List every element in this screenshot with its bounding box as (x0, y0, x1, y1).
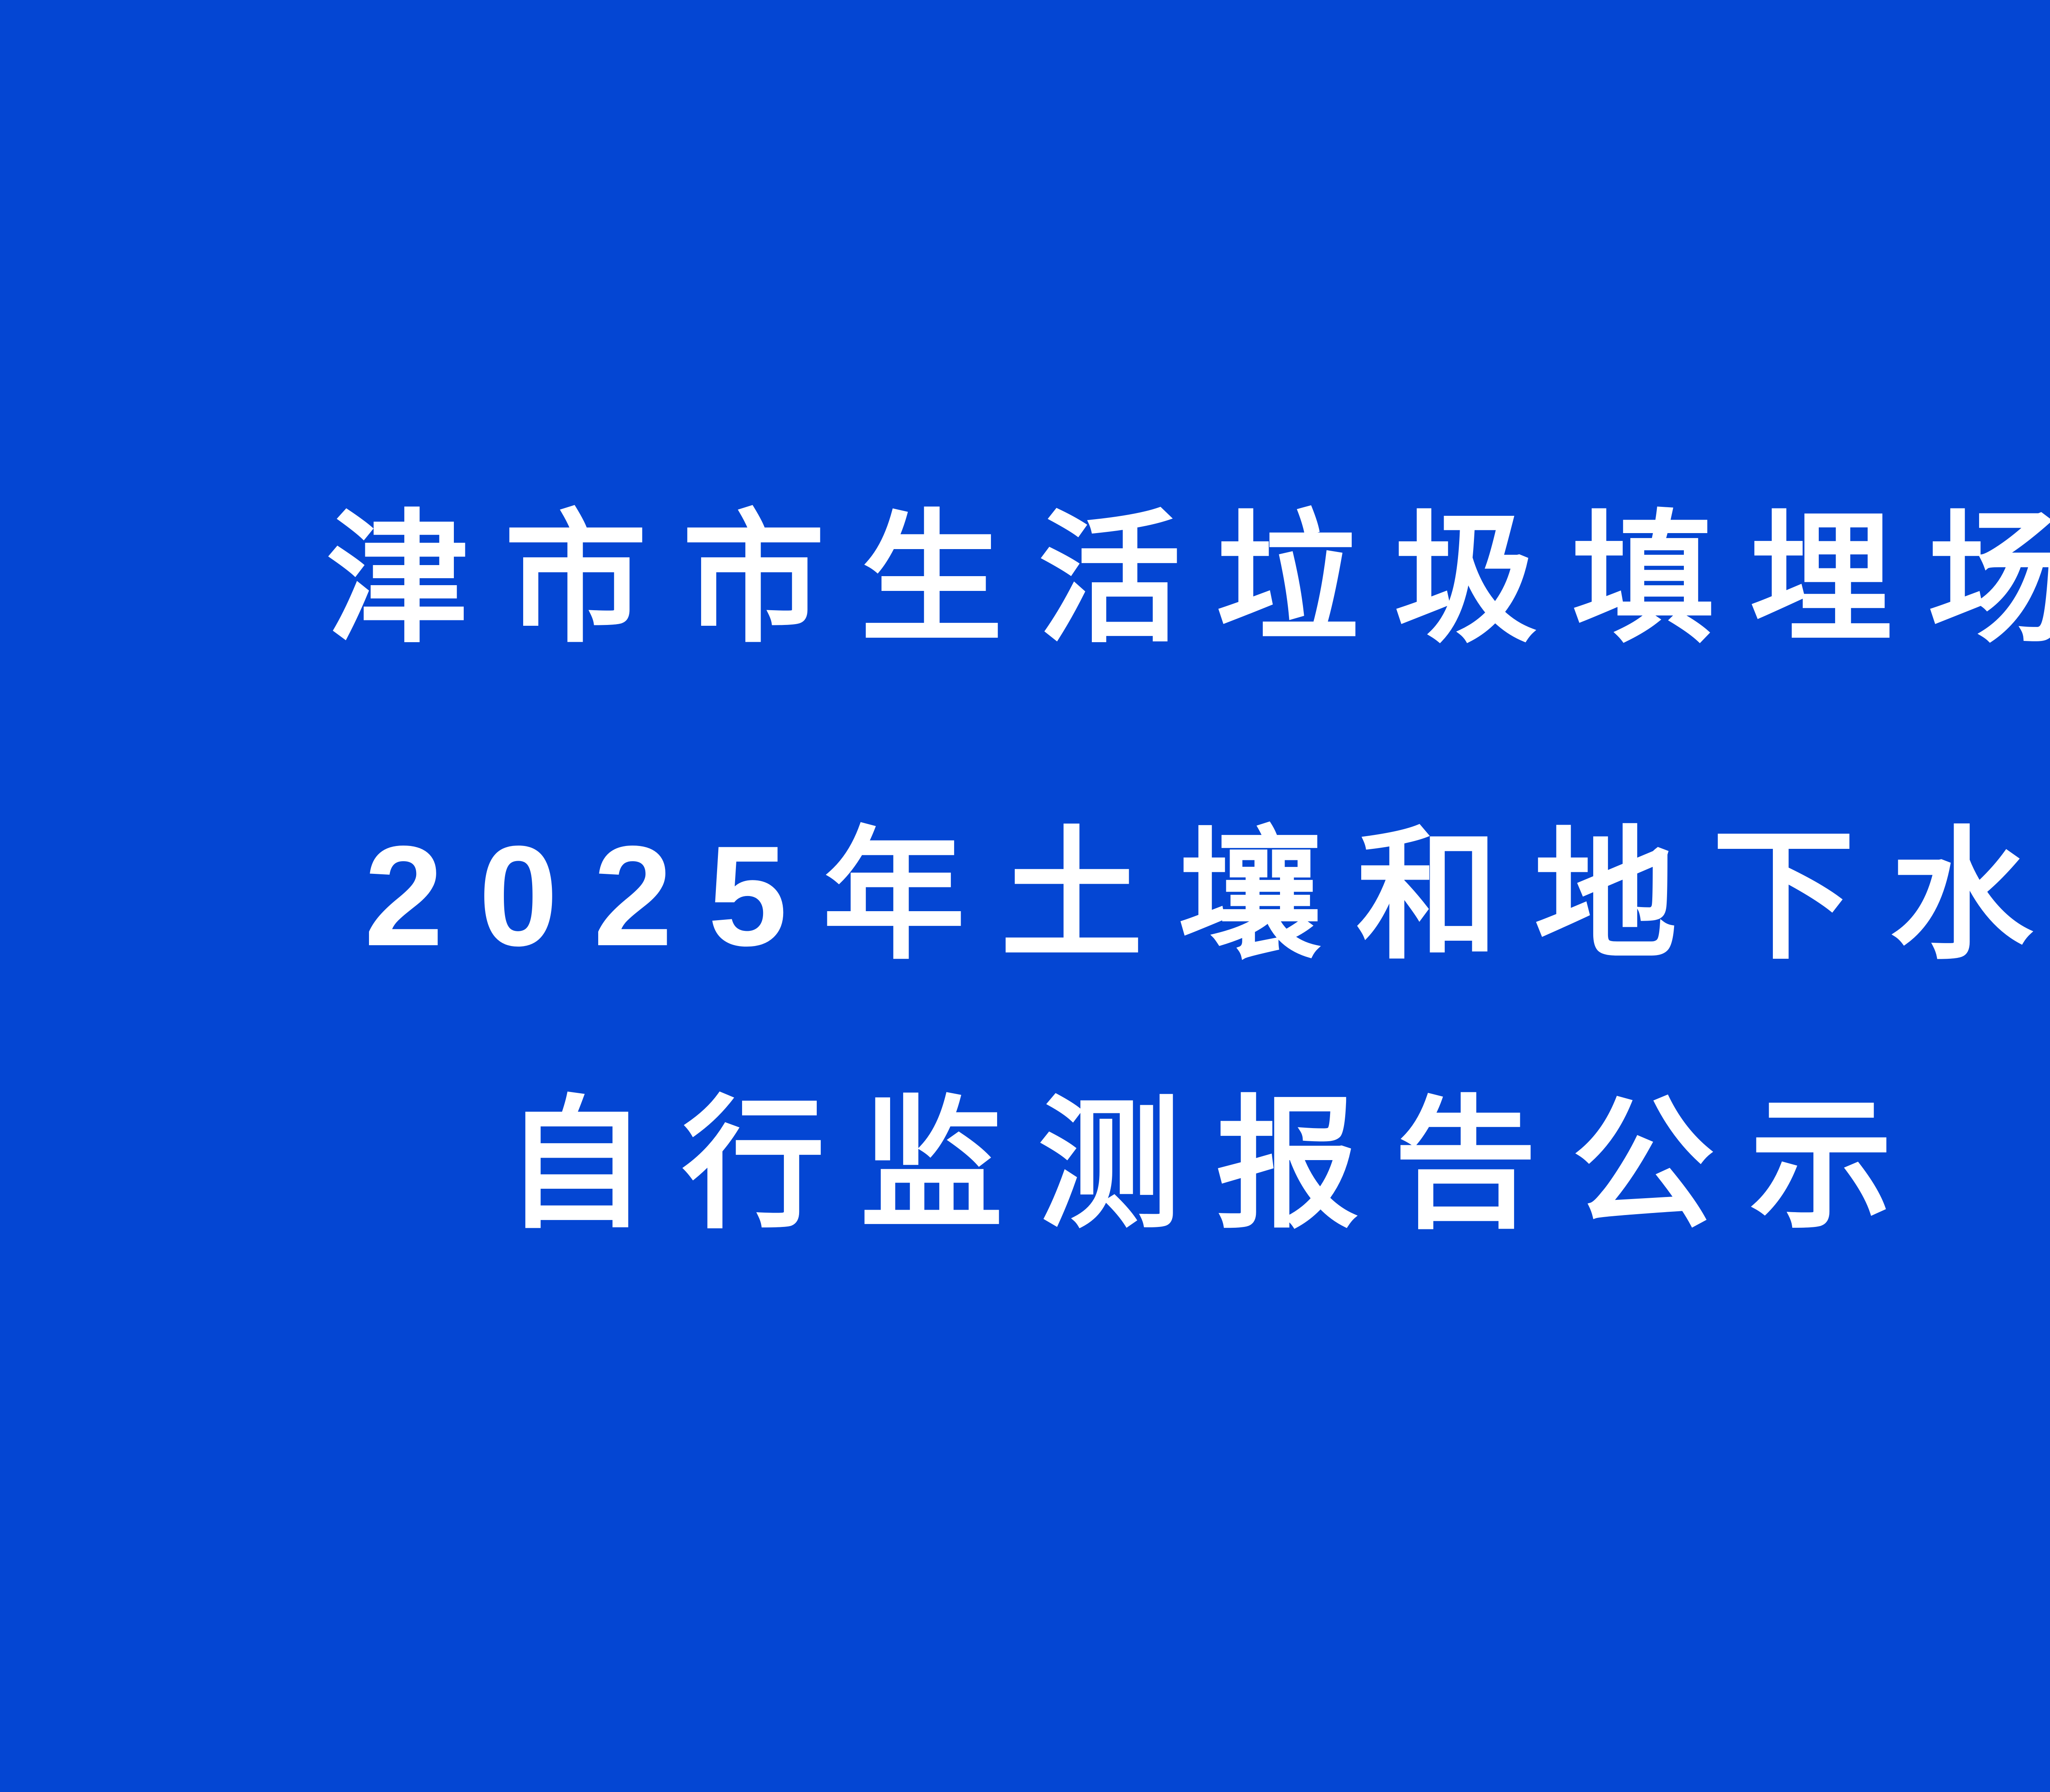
poster-title-line-2: 2025年土壤和地下水 (329, 825, 2050, 967)
poster-title-line-1: 津市市生活垃圾填埋场 (291, 508, 2050, 651)
announcement-poster: 津市市生活垃圾填埋场 2025年土壤和地下水 自行监测报告公示 (0, 0, 2050, 1792)
poster-title-block: 津市市生活垃圾填埋场 2025年土壤和地下水 自行监测报告公示 (0, 508, 2050, 1236)
poster-title-line-3: 自行监测报告公示 (469, 1094, 1928, 1236)
